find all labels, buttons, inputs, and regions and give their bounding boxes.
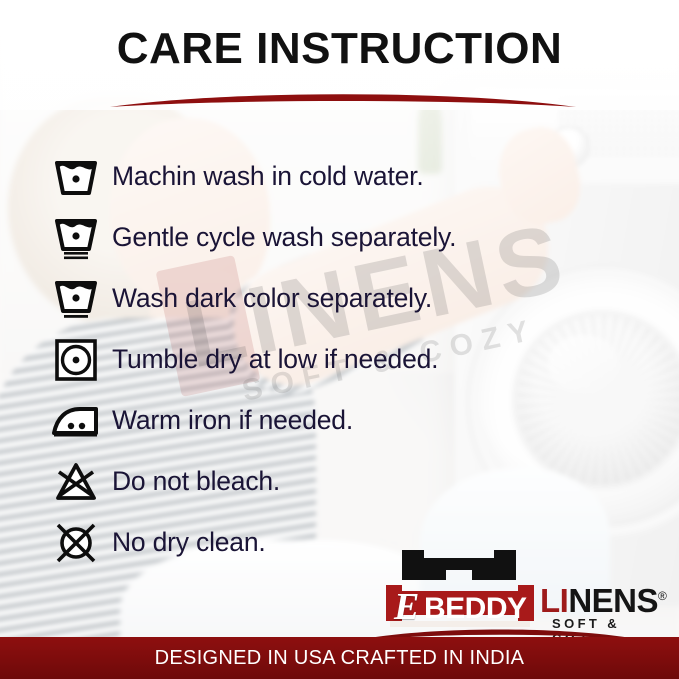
instruction-row: Warm iron if needed.: [40, 390, 640, 451]
bottom-banner: DESIGNED IN USA CRAFTED IN INDIA: [0, 637, 679, 679]
instruction-text: Wash dark color separately.: [112, 283, 432, 314]
iron-warm-icon: [40, 402, 112, 440]
instruction-list: Machin wash in cold water. Gentle cycle …: [40, 146, 640, 573]
registered-mark: ®: [658, 589, 666, 603]
instruction-text: Tumble dry at low if needed.: [112, 344, 438, 375]
instruction-text: Gentle cycle wash separately.: [112, 222, 456, 253]
wash-tub-gentle-icon: [40, 215, 112, 261]
instruction-row: Wash dark color separately.: [40, 268, 640, 329]
brand-name-accent: LI: [540, 582, 568, 619]
instruction-text: Warm iron if needed.: [112, 405, 353, 436]
badge-word: BEDDY: [424, 592, 527, 626]
wash-tub-cold-icon: [40, 157, 112, 197]
instruction-row: Machin wash in cold water.: [40, 146, 640, 207]
instruction-text: Do not bleach.: [112, 466, 280, 497]
tumble-dry-low-icon: [40, 338, 112, 382]
do-not-bleach-icon: [40, 460, 112, 504]
instruction-row: Tumble dry at low if needed.: [40, 329, 640, 390]
do-not-dry-clean-icon: [40, 520, 112, 566]
brand-name: LINENS®: [540, 584, 666, 617]
page-title: CARE INSTRUCTION: [0, 24, 679, 74]
brand-logo: E BEDDY LINENS® SOFT & COZY: [380, 548, 670, 634]
brand-name-rest: NENS: [568, 582, 658, 619]
banner-text: DESIGNED IN USA CRAFTED IN INDIA: [155, 647, 525, 670]
instruction-text: Machin wash in cold water.: [112, 161, 423, 192]
title-underline-swoosh: [108, 88, 578, 110]
care-instruction-card: LINENS SOFT & COZY CARE INSTRUCTION Mach…: [0, 0, 679, 679]
instruction-text: No dry clean.: [112, 527, 266, 558]
wash-tub-permanent-press-icon: [40, 277, 112, 321]
instruction-row: Do not bleach.: [40, 451, 640, 512]
instruction-row: Gentle cycle wash separately.: [40, 207, 640, 268]
